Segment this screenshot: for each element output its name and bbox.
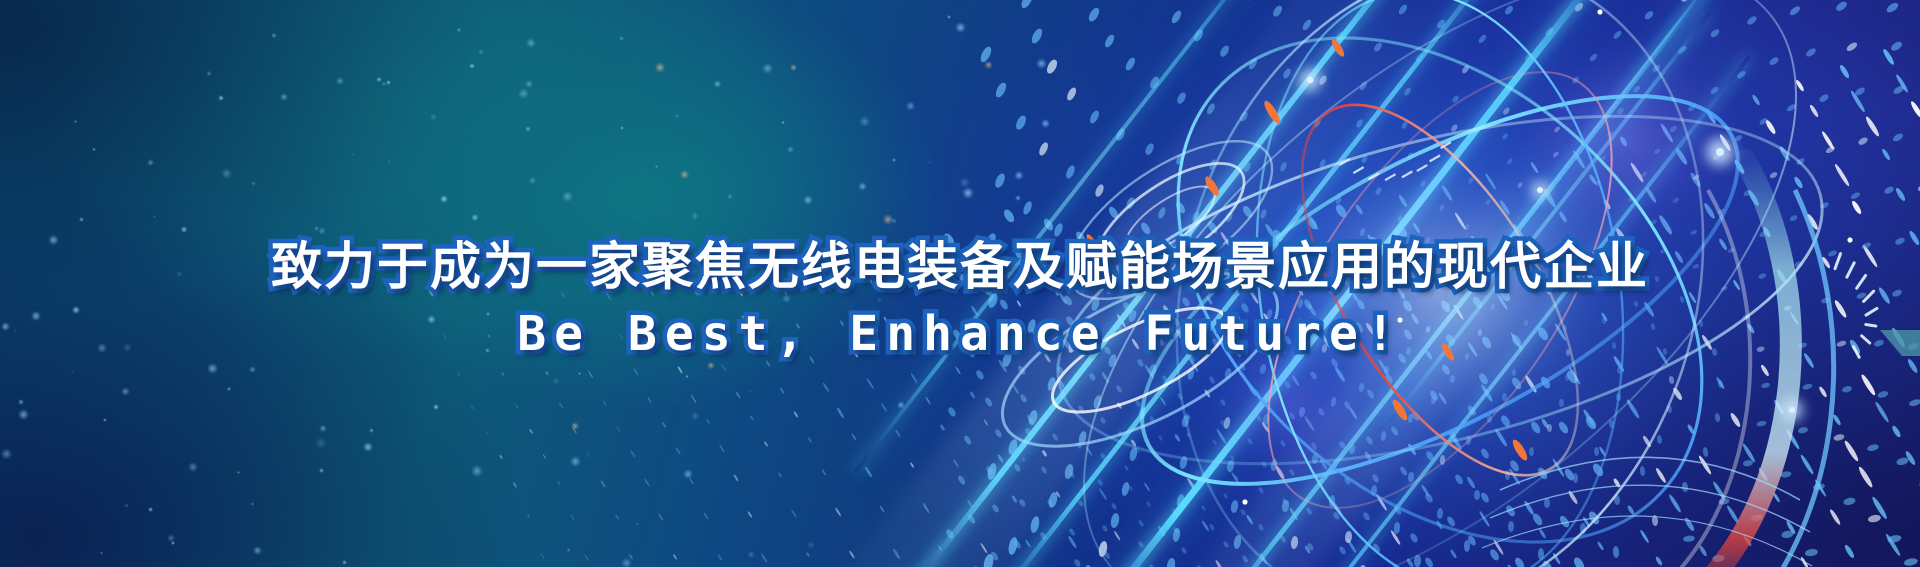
headline-chinese: 致力于成为一家聚焦无线电装备及赋能场景应用的现代企业 bbox=[0, 238, 1920, 298]
headline-block: 致力于成为一家聚焦无线电装备及赋能场景应用的现代企业 Be Best, Enha… bbox=[0, 238, 1920, 361]
hero-banner: 致力于成为一家聚焦无线电装备及赋能场景应用的现代企业 Be Best, Enha… bbox=[0, 0, 1920, 567]
headline-english: Be Best, Enhance Future! bbox=[0, 308, 1920, 361]
